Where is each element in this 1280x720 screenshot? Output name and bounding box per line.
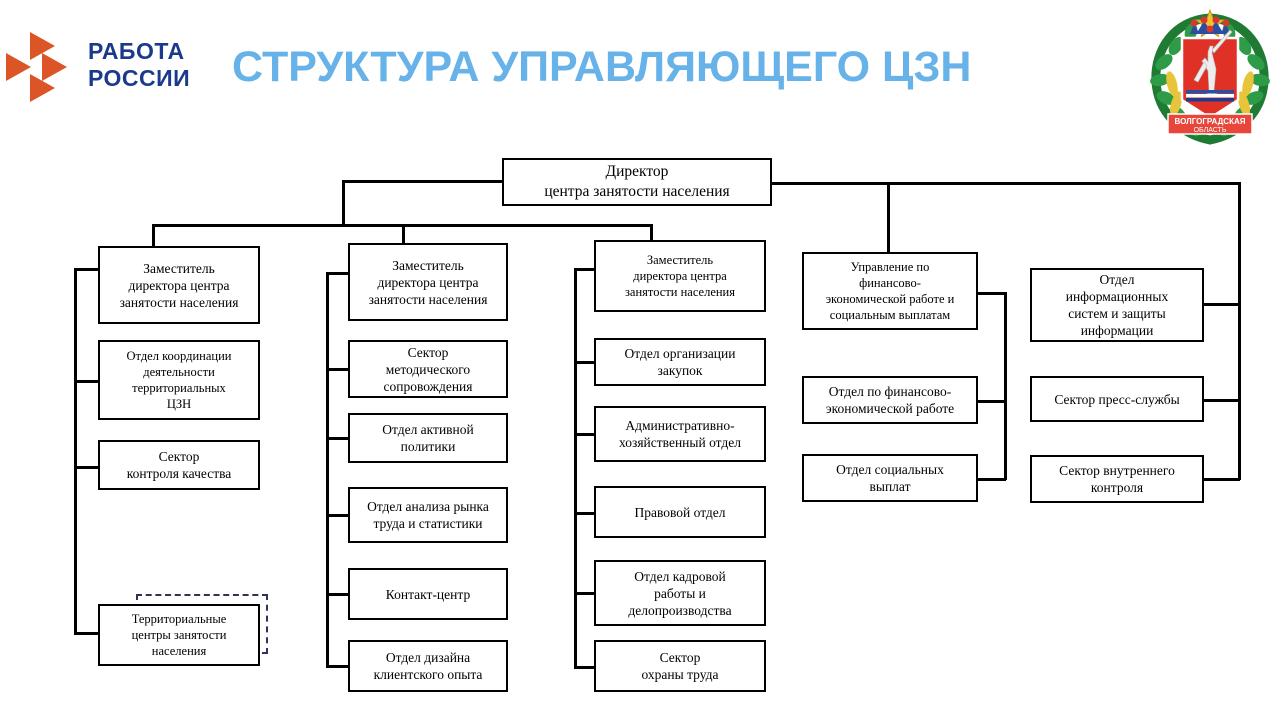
branch-3-stub-3 <box>574 512 596 515</box>
connector-right-bus <box>1238 182 1241 480</box>
branch-2-stub-2 <box>326 437 350 440</box>
node-branch-2-unit-1[interactable]: Сектор методического сопровождения <box>348 340 508 398</box>
node-branch-3-unit-3[interactable]: Правовой отдел <box>594 486 766 538</box>
branch-1-bus <box>74 268 77 634</box>
node-branch-3-head[interactable]: Заместитель директора центра занятости н… <box>594 240 766 312</box>
branch-5-stub-head <box>1204 303 1240 306</box>
branch-2-stub-4 <box>326 593 350 596</box>
branch-1-stub-2 <box>74 466 100 469</box>
node-branch-2-unit-4[interactable]: Контакт-центр <box>348 568 508 620</box>
node-branch-1-unit-3[interactable]: Территориальные центры занятости населен… <box>98 604 260 666</box>
org-chart: Директор центра занятости населения Заме… <box>0 0 1280 720</box>
branch-4-stub-2 <box>978 478 1006 481</box>
branch-2-stub-head <box>326 272 350 275</box>
connector-root-left-drop <box>342 180 345 226</box>
node-branch-4-unit-2[interactable]: Отдел социальных выплат <box>802 454 978 502</box>
node-branch-5-head[interactable]: Отдел информационных систем и защиты инф… <box>1030 268 1204 342</box>
connector-drop-branch-4 <box>887 182 890 252</box>
branch-3-bus <box>574 268 577 666</box>
node-branch-5-unit-1[interactable]: Сектор пресс-службы <box>1030 376 1204 422</box>
branch-1-stub-head <box>74 268 100 271</box>
node-branch-3-unit-4[interactable]: Отдел кадровой работы и делопроизводства <box>594 560 766 626</box>
branch-2-stub-1 <box>326 368 350 371</box>
node-branch-4-unit-1[interactable]: Отдел по финансово- экономической работе <box>802 376 978 424</box>
node-branch-1-unit-2[interactable]: Сектор контроля качества <box>98 440 260 490</box>
branch-2-stub-5 <box>326 665 350 668</box>
branch-1-stub-1 <box>74 380 100 383</box>
branch-4-stub-1 <box>978 400 1006 403</box>
connector-root-left <box>342 180 504 183</box>
branch-5-stub-2 <box>1204 478 1240 481</box>
connector-drop-branch-1 <box>152 224 155 248</box>
node-branch-5-unit-2[interactable]: Сектор внутреннего контроля <box>1030 455 1204 503</box>
node-branch-3-unit-1[interactable]: Отдел организации закупок <box>594 338 766 386</box>
branch-3-stub-head <box>574 268 596 271</box>
branch-5-stub-1 <box>1204 399 1240 402</box>
branch-2-stub-3 <box>326 514 350 517</box>
node-branch-2-unit-5[interactable]: Отдел дизайна клиентского опыта <box>348 640 508 692</box>
node-branch-3-unit-5[interactable]: Сектор охраны труда <box>594 640 766 692</box>
branch-3-stub-1 <box>574 361 596 364</box>
branch-1-stub-3 <box>74 632 100 635</box>
node-branch-3-unit-2[interactable]: Административно- хозяйственный отдел <box>594 406 766 462</box>
node-branch-2-unit-3[interactable]: Отдел анализа рынка труда и статистики <box>348 487 508 543</box>
branch-3-stub-4 <box>574 592 596 595</box>
branch-3-stub-5 <box>574 666 596 669</box>
node-branch-1-head[interactable]: Заместитель директора центра занятости н… <box>98 246 260 324</box>
branch-3-stub-2 <box>574 433 596 436</box>
branch-2-bus <box>326 272 329 666</box>
node-director[interactable]: Директор центра занятости населения <box>502 158 772 206</box>
node-branch-2-head[interactable]: Заместитель директора центра занятости н… <box>348 243 508 321</box>
node-branch-1-unit-1[interactable]: Отдел координации деятельности территори… <box>98 340 260 420</box>
connector-root-right <box>770 182 1240 185</box>
node-branch-2-unit-2[interactable]: Отдел активной политики <box>348 413 508 463</box>
node-branch-4-head[interactable]: Управление по финансово- экономической р… <box>802 252 978 330</box>
branch-4-stub-head <box>978 292 1006 295</box>
branch-4-bus <box>1004 292 1007 480</box>
